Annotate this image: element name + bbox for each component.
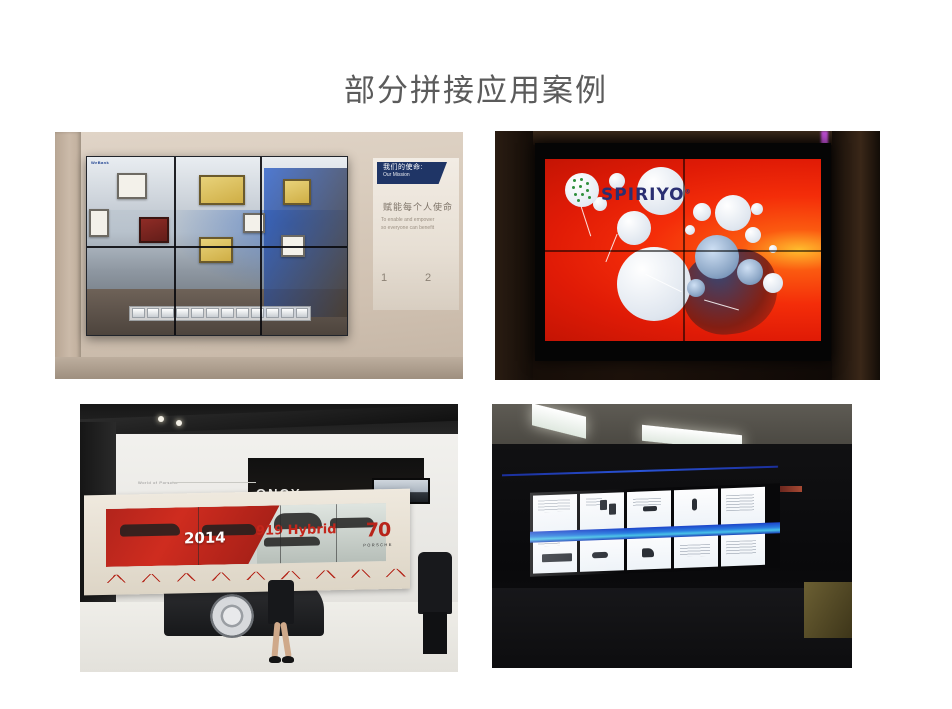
bubble-with-reflection: [737, 259, 763, 285]
mission-heading: 赋能每个人使命: [383, 200, 455, 213]
toolbar-thumb[interactable]: [191, 308, 204, 318]
chevron-icon: [246, 572, 267, 580]
chevron-icon: [385, 569, 406, 577]
scene-plaque-gold-2: [283, 179, 311, 205]
chevron-icon: [141, 574, 162, 582]
bubble: [617, 211, 651, 245]
office-left-pillar: [55, 132, 81, 379]
cardboard-boxes: [804, 582, 852, 638]
porsche-stretched-banner-screen: 2014 919 Hybrid: [106, 503, 386, 567]
bubble: [769, 245, 777, 253]
toolbar-thumb[interactable]: [176, 308, 189, 318]
scene-certificate-frame: [117, 173, 147, 199]
bubble: [693, 203, 711, 221]
toolbar-thumb[interactable]: [266, 308, 279, 318]
spiriyo-logo-text: SPIRIYO: [601, 185, 685, 205]
chevron-icon: [350, 569, 371, 577]
mission-body-line-2: so everyone can benefit: [381, 224, 455, 232]
mission-list-number-1: 1: [381, 272, 387, 284]
video-wall-bezel-horizontal: [87, 246, 347, 248]
wall-label-rule: [172, 482, 256, 483]
banner-bezel: [336, 504, 337, 562]
screen-brand-logo: WeBank: [91, 160, 109, 165]
banner-bezel: [280, 505, 281, 563]
room-floor: [492, 588, 852, 668]
video-wall-case-gallery: WeBank: [0, 0, 952, 709]
porsche-70-anniversary-logo: 70 PORSCHE: [358, 519, 398, 548]
chevron-icon: [315, 570, 336, 578]
visitor-walking: [266, 580, 296, 666]
exit-sign: [780, 486, 802, 492]
ceiling-spotlight: [176, 420, 182, 426]
toolbar-thumb[interactable]: [221, 308, 234, 318]
ceiling-spotlight: [158, 416, 164, 422]
spiriyo-logo: SPIRIYO®: [601, 185, 692, 205]
left-pillar: [495, 131, 533, 380]
toolbar-thumb[interactable]: [296, 308, 309, 318]
spiriyo-screen-content: SPIRIYO®: [545, 159, 821, 341]
kiosk-chevron-strip: [106, 569, 406, 587]
bubble: [763, 273, 783, 293]
right-pillar: [832, 131, 880, 380]
mission-list-number-2: 2: [425, 272, 431, 284]
scene-plaque-gold: [199, 175, 245, 205]
mission-tab-label-en: Our Mission: [383, 172, 447, 179]
toolbar-thumb[interactable]: [161, 308, 174, 318]
stretched-display-kiosk: 2014 919 Hybrid 70 PORSCHE: [84, 489, 410, 596]
photo-office-video-wall[interactable]: WeBank: [55, 132, 463, 379]
porsche-wordmark: PORSCHE: [358, 542, 398, 548]
toolbar-thumb[interactable]: [147, 308, 160, 318]
photo-dark-room-video-wall[interactable]: [492, 404, 852, 668]
toolbar-thumb[interactable]: [206, 308, 219, 318]
five-by-two-video-wall: [530, 483, 780, 577]
chevron-icon: [211, 572, 232, 580]
car-wheel: [210, 594, 254, 638]
bubble: [715, 195, 751, 231]
banner-year-label: 2014: [184, 528, 226, 547]
dotted-sphere-icon: [565, 173, 599, 207]
toolbar-thumb[interactable]: [236, 308, 249, 318]
bubble-large: [617, 247, 691, 321]
mission-number-value: 1: [381, 272, 387, 284]
mission-tab: 我们的使命: Our Mission: [377, 162, 447, 184]
photo-spiriyo-red-wall[interactable]: SPIRIYO®: [495, 131, 880, 380]
bubble: [745, 227, 761, 243]
bubble: [685, 225, 695, 235]
mission-body-line-1: To enable and empower: [381, 216, 455, 224]
registered-mark-icon: ®: [685, 188, 692, 195]
screen-thumbnail-toolbar[interactable]: [129, 306, 312, 321]
office-video-wall-screen: WeBank: [86, 156, 348, 336]
mission-tab-label-cn: 我们的使命:: [383, 164, 447, 172]
slide-page: 部分拼接应用案例 WeBan: [0, 0, 952, 709]
video-wall-bezel-horizontal: [545, 250, 821, 252]
chevron-icon: [176, 573, 197, 581]
spiriyo-video-wall-frame: SPIRIYO®: [535, 143, 831, 361]
banner-bezel: [198, 507, 199, 565]
mission-statement-wall-panel: 我们的使命: Our Mission 赋能每个人使命 To enable and…: [373, 158, 459, 310]
scene-plaque-gold-3: [199, 237, 233, 263]
chevron-icon: [106, 575, 127, 583]
scene-red-poster: [139, 217, 169, 243]
chevron-icon: [280, 571, 301, 579]
toolbar-thumb[interactable]: [281, 308, 294, 318]
visitor-standing: [418, 552, 452, 656]
connector-thread: [605, 234, 617, 262]
screen-glare: [530, 483, 780, 577]
banner-car-silhouette: [120, 523, 180, 536]
anniversary-number: 70: [358, 519, 398, 542]
banner-model-label: 919 Hybrid: [256, 522, 337, 539]
scene-certificate-frame-3: [89, 209, 109, 237]
mission-number-value: 2: [425, 272, 431, 284]
bubble-with-reflection: [695, 235, 739, 279]
office-screen-content: WeBank: [87, 157, 347, 335]
toolbar-thumb[interactable]: [132, 308, 145, 318]
bubble: [751, 203, 763, 215]
office-baseboard: [55, 357, 463, 379]
photo-porsche-showroom[interactable]: ONCY World of Porsche: [80, 404, 458, 672]
bubble-with-reflection: [687, 279, 705, 297]
connector-thread: [580, 204, 591, 237]
